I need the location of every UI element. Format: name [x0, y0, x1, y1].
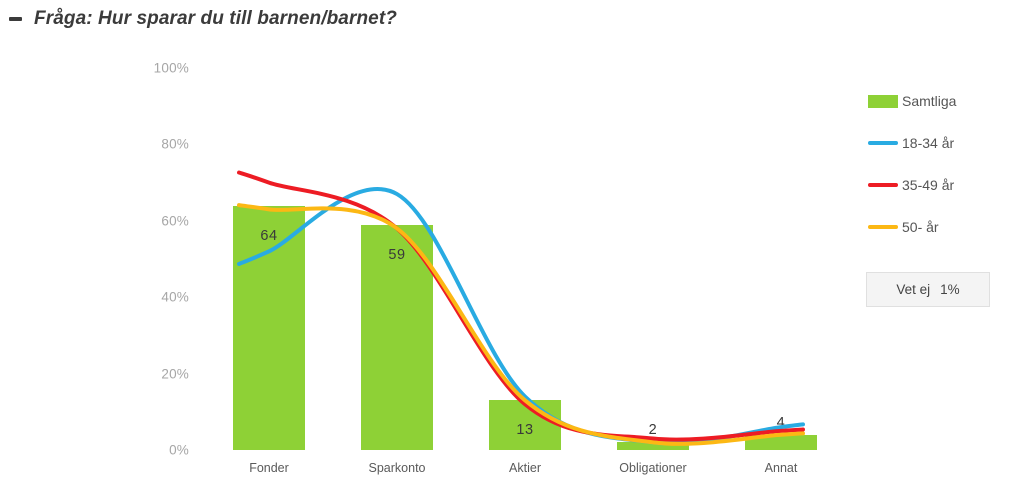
line-series[interactable]	[239, 205, 803, 444]
y-axis-tick: 100%	[154, 61, 189, 76]
x-axis-tick: Sparkonto	[369, 461, 426, 475]
line-series-overlay	[205, 68, 845, 450]
chart-legend: Samtliga18-34 år35-49 år50- år	[868, 80, 1018, 248]
vet-ej-value: 1%	[940, 282, 960, 297]
legend-item[interactable]: 18-34 år	[868, 122, 1018, 164]
legend-item[interactable]: 50- år	[868, 206, 1018, 248]
y-axis-tick: 80%	[161, 137, 189, 152]
legend-item[interactable]: Samtliga	[868, 80, 1018, 122]
chart-header: Fråga: Hur sparar du till barnen/barnet?	[0, 0, 1024, 38]
y-axis-tick: 40%	[161, 290, 189, 305]
plot-region: 100%80%60%40%20%0% 64Fonder59Sparkonto13…	[205, 68, 845, 450]
legend-swatch-line	[868, 183, 898, 187]
page-title: Fråga: Hur sparar du till barnen/barnet?	[34, 8, 397, 30]
chart-page: Fråga: Hur sparar du till barnen/barnet?…	[0, 0, 1024, 487]
x-axis-tick: Fonder	[249, 461, 289, 475]
x-axis-tick: Obligationer	[619, 461, 686, 475]
legend-item-label: Samtliga	[902, 93, 956, 109]
y-axis-tick: 20%	[161, 366, 189, 381]
legend-item-label: 35-49 år	[902, 177, 954, 193]
legend-swatch-line	[868, 141, 898, 145]
legend-item-label: 50- år	[902, 219, 939, 235]
legend-item[interactable]: 35-49 år	[868, 164, 1018, 206]
legend-swatch-bar	[868, 95, 898, 108]
line-series[interactable]	[239, 189, 803, 443]
legend-swatch-line	[868, 225, 898, 229]
x-axis-tick: Annat	[765, 461, 798, 475]
vet-ej-box[interactable]: Vet ej 1%	[866, 272, 990, 307]
y-axis-tick: 60%	[161, 213, 189, 228]
y-axis-tick: 0%	[169, 443, 189, 458]
minus-icon[interactable]	[8, 11, 24, 27]
vet-ej-label: Vet ej	[896, 282, 930, 297]
x-axis-tick: Aktier	[509, 461, 541, 475]
legend-item-label: 18-34 år	[902, 135, 954, 151]
